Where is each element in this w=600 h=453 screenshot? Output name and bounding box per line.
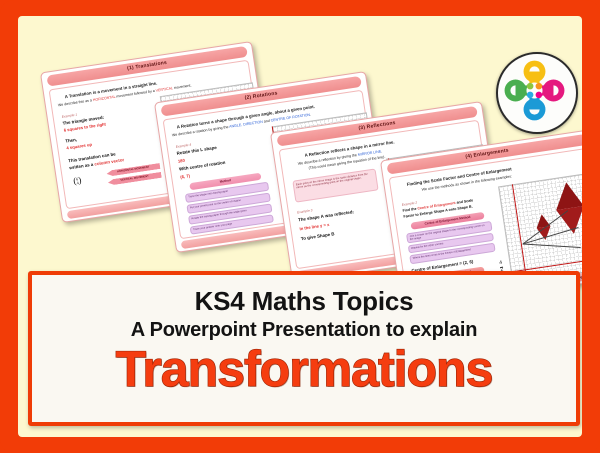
body-line-3: With centre of rotation bbox=[179, 160, 226, 172]
sub-post: . bbox=[310, 113, 312, 117]
sub-pre: We describe this as a bbox=[58, 98, 94, 107]
four-lobe-circle-logo-icon bbox=[498, 54, 571, 127]
cream-canvas: (1) Translations A Translation is a move… bbox=[18, 16, 582, 437]
body-line-3: Then, bbox=[65, 137, 77, 144]
brand-logo bbox=[496, 52, 578, 134]
sub-post: movement. bbox=[173, 83, 192, 90]
body-line-2: 180 bbox=[177, 158, 185, 164]
topic-title: Transformations bbox=[32, 344, 576, 395]
title-plate: KS4 Maths Topics A Powerpoint Presentati… bbox=[28, 271, 580, 426]
body-line-3: To give Shape B bbox=[301, 231, 335, 241]
example-label: Example 3 bbox=[297, 208, 313, 214]
reflection-note: Each point on the mirror image is the sa… bbox=[292, 168, 378, 202]
sub-highlight-1: ANGLE, DIRECTION bbox=[229, 120, 263, 129]
column-vector: (64) bbox=[73, 175, 82, 186]
product-cover-image: (1) Translations A Translation is a move… bbox=[0, 0, 600, 453]
sub-highlight-2: VERTICAL bbox=[155, 86, 173, 93]
shape-b-triangle-top bbox=[552, 180, 582, 210]
page-title: KS4 Maths Topics bbox=[32, 286, 576, 317]
body-line-4: (6, 7) bbox=[180, 173, 190, 179]
sub-highlight-1: HORIZONTAL bbox=[93, 95, 116, 102]
page-subtitle: A Powerpoint Presentation to explain bbox=[32, 319, 576, 342]
body-line-4: 4 squares up bbox=[66, 142, 92, 151]
body-line-2: In the line y = x bbox=[299, 222, 330, 231]
sub-mid: . bbox=[381, 149, 383, 153]
